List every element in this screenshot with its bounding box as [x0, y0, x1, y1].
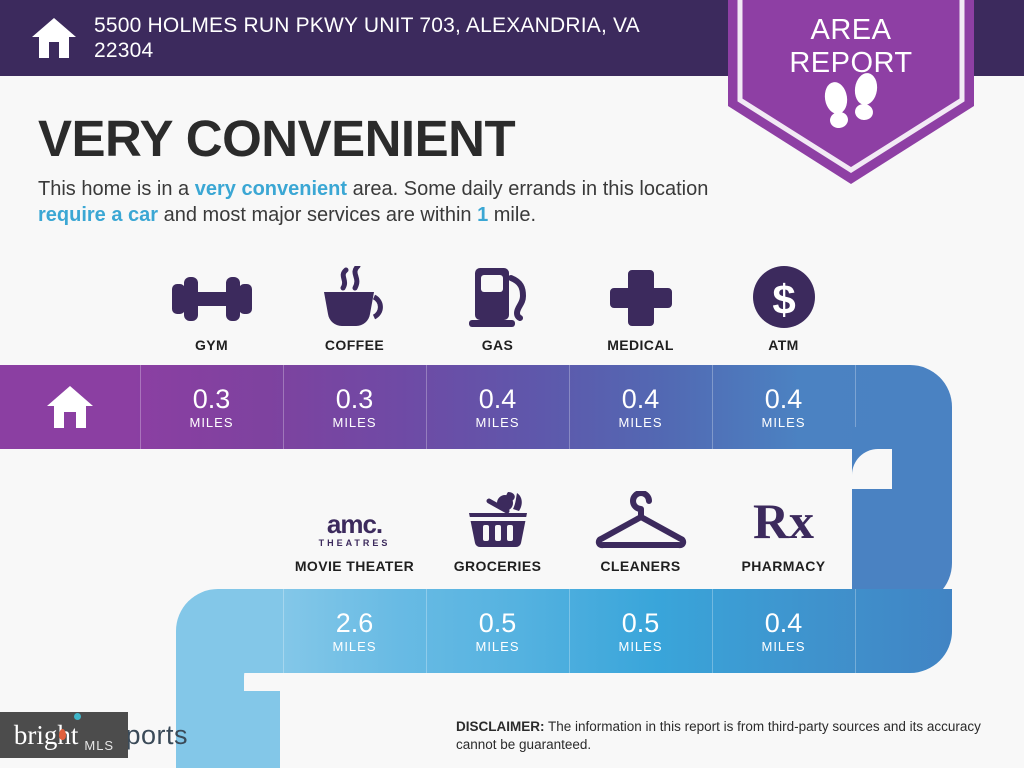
distance-unit: MILES — [618, 415, 662, 430]
distance-row-1: 0.3 MILES 0.3 MILES 0.4 MILES 0.4 MILES — [0, 365, 952, 449]
summary-highlight-distance: 1 — [477, 204, 488, 226]
dollar-coin-icon: $ — [751, 266, 817, 328]
amc-wordmark: amc. — [327, 512, 382, 536]
amenity-cleaners: CLEANERS — [569, 487, 712, 574]
amenity-label: MEDICAL — [607, 337, 674, 353]
amenity-label: COFFEE — [325, 337, 384, 353]
summary-part-2: area. Some daily errands in this locatio… — [347, 178, 708, 200]
distance-value: 0.4 — [765, 385, 803, 413]
distance-value: 0.4 — [765, 609, 803, 637]
amenity-label: PHARMACY — [741, 558, 825, 574]
summary-part-1: This home is in a — [38, 178, 195, 200]
page-title: 5500 HOLMES RUN PKWY UNIT 703, ALEXANDRI… — [94, 13, 674, 63]
summary-text: This home is in a very convenient area. … — [38, 176, 738, 228]
cell-divider — [855, 589, 856, 673]
amenity-label: CLEANERS — [600, 558, 680, 574]
distance-pharmacy: 0.4 MILES — [712, 589, 855, 673]
summary-highlight-convenient: very convenient — [195, 178, 347, 200]
svg-text:$: $ — [772, 276, 795, 323]
amenity-label: GROCERIES — [454, 558, 542, 574]
amc-sub-wordmark: THEATRES — [319, 538, 391, 549]
distance-value: 0.5 — [479, 609, 517, 637]
distance-value: 0.5 — [622, 609, 660, 637]
distance-unit: MILES — [189, 415, 233, 430]
distance-cells-2: 2.6 MILES 0.5 MILES 0.5 MILES 0.4 MILES — [176, 589, 952, 673]
amenity-label: GAS — [482, 337, 514, 353]
rx-wordmark: Rx — [753, 493, 814, 549]
amenity-coffee: COFFEE — [283, 266, 426, 353]
distance-row-2: 2.6 MILES 0.5 MILES 0.5 MILES 0.4 MILES — [176, 589, 952, 673]
fuel-pump-icon — [463, 266, 533, 328]
amc-theatres-logo: amc. THEATRES — [319, 487, 391, 549]
logo-bright-text: bright — [14, 720, 79, 750]
distance-unit: MILES — [761, 639, 805, 654]
rx-icon: Rx — [753, 487, 814, 549]
area-report-page: 5500 HOLMES RUN PKWY UNIT 703, ALEXANDRI… — [0, 0, 1024, 768]
amenity-medical: MEDICAL — [569, 266, 712, 353]
logo-mls-text: MLS — [84, 738, 114, 753]
distance-cells-1: 0.3 MILES 0.3 MILES 0.4 MILES 0.4 MILES — [0, 365, 952, 449]
summary-highlight-car: require a car — [38, 204, 158, 226]
distance-gas: 0.4 MILES — [426, 365, 569, 449]
ribbon-house-icon — [0, 365, 140, 449]
distance-value: 0.4 — [622, 385, 660, 413]
distance-gym: 0.3 MILES — [140, 365, 283, 449]
medical-cross-icon — [610, 266, 672, 328]
clothes-hanger-icon — [595, 487, 687, 549]
amenity-atm: $ ATM — [712, 266, 855, 353]
amenity-label: MOVIE THEATER — [295, 558, 414, 574]
amenity-label: GYM — [195, 337, 228, 353]
distance-value: 0.3 — [193, 385, 231, 413]
distance-unit: MILES — [475, 639, 519, 654]
summary-part-4: mile. — [488, 204, 536, 226]
distance-unit: MILES — [332, 415, 376, 430]
distance-unit: MILES — [761, 415, 805, 430]
coffee-cup-icon — [316, 266, 394, 328]
house-icon — [30, 15, 78, 61]
distance-cleaners: 0.5 MILES — [569, 589, 712, 673]
grocery-basket-icon — [461, 487, 535, 549]
logo-dot-icon — [74, 713, 81, 720]
distance-unit: MILES — [332, 639, 376, 654]
disclaimer-label: DISCLAIMER: — [456, 719, 545, 734]
amenity-pharmacy: Rx PHARMACY — [712, 487, 855, 574]
distance-atm: 0.4 MILES — [712, 365, 855, 449]
amenity-gym: GYM — [140, 266, 283, 353]
distance-movie-theater: 2.6 MILES — [283, 589, 426, 673]
bright-mls-logo: bright MLS — [0, 712, 128, 758]
area-report-badge: AREA REPORT — [728, 0, 974, 184]
amenity-label: ATM — [768, 337, 799, 353]
distance-medical: 0.4 MILES — [569, 365, 712, 449]
dumbbell-icon — [164, 266, 260, 328]
distance-groceries: 0.5 MILES — [426, 589, 569, 673]
amenity-movie-theater: amc. THEATRES MOVIE THEATER — [283, 487, 426, 574]
distance-value: 2.6 — [336, 609, 374, 637]
headline: VERY CONVENIENT — [38, 112, 515, 166]
disclaimer: DISCLAIMER: The information in this repo… — [456, 718, 996, 754]
distance-unit: MILES — [475, 415, 519, 430]
distance-value: 0.4 — [479, 385, 517, 413]
amenity-gas: GAS — [426, 266, 569, 353]
distance-unit: MILES — [618, 639, 662, 654]
summary-part-3: and most major services are within — [158, 204, 477, 226]
distance-value: 0.3 — [336, 385, 374, 413]
distance-coffee: 0.3 MILES — [283, 365, 426, 449]
amenity-groceries: GROCERIES — [426, 487, 569, 574]
